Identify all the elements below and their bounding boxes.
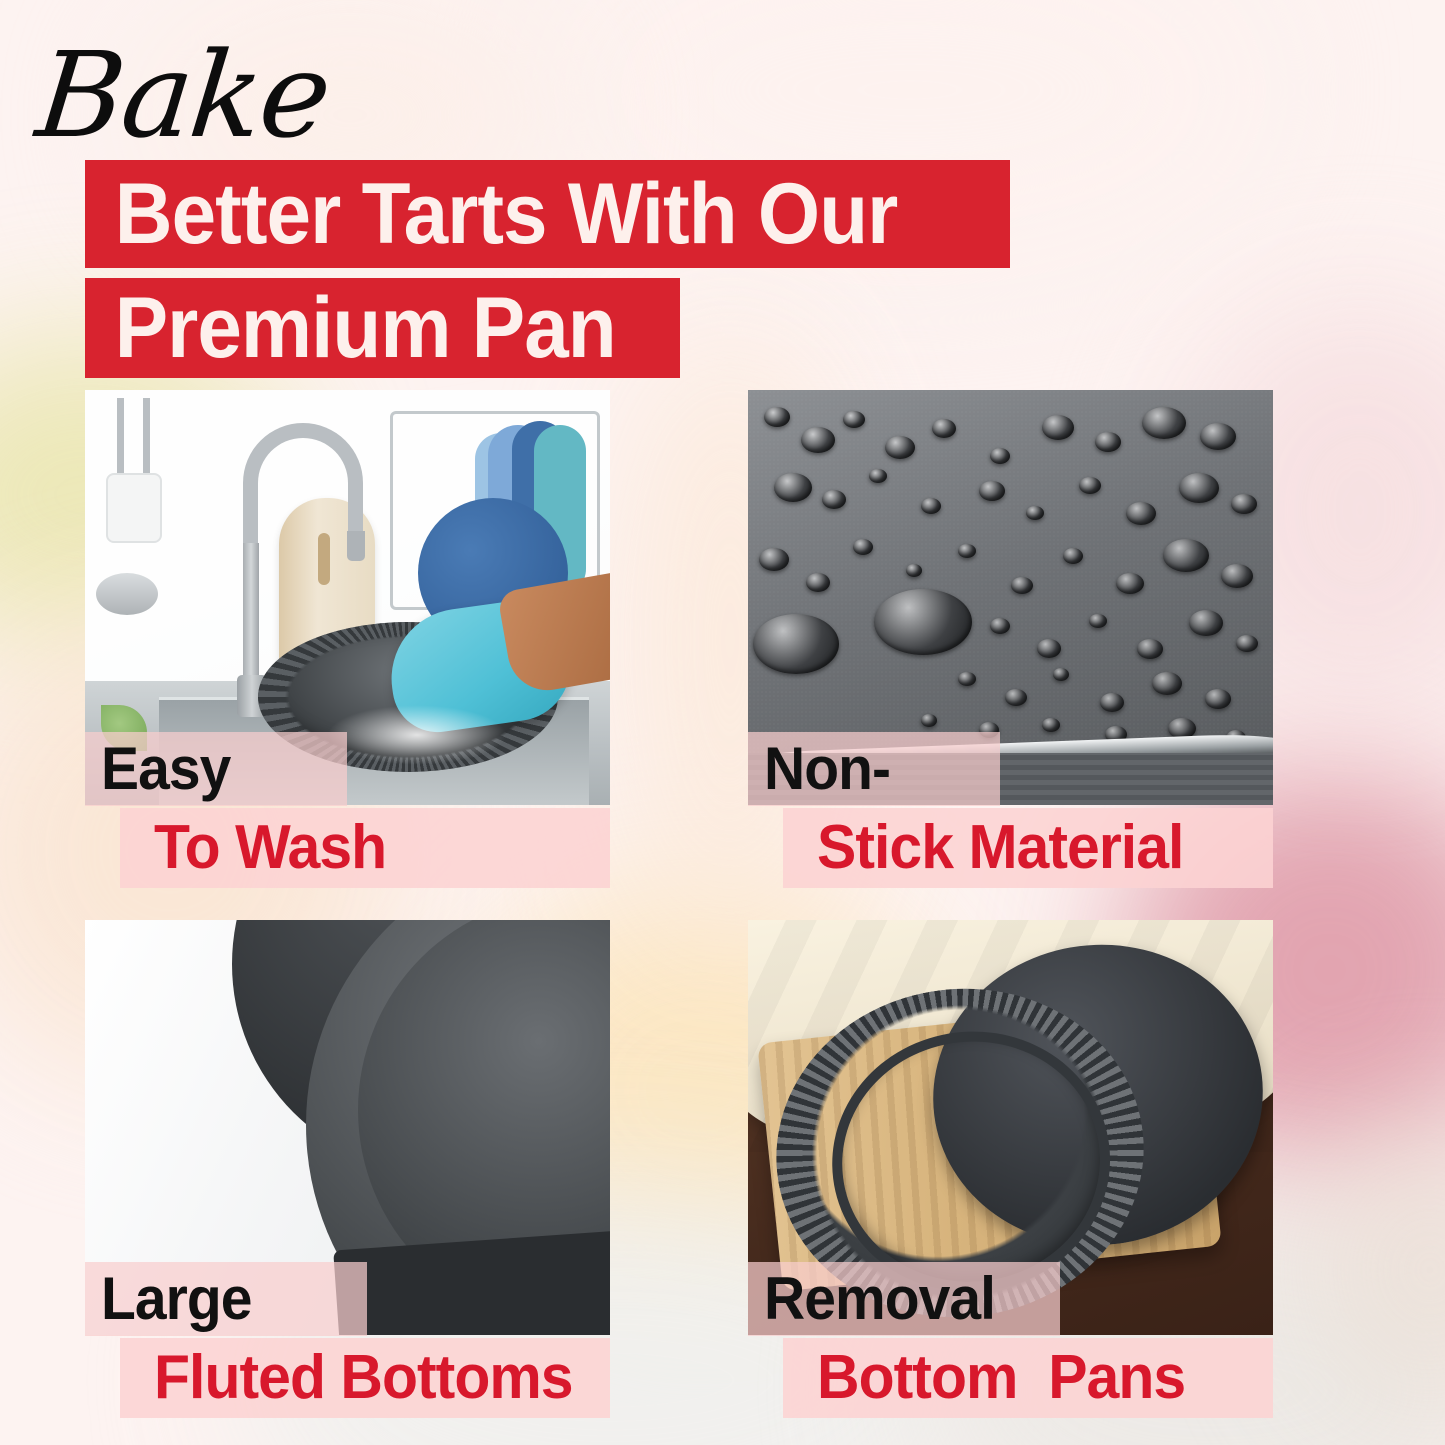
water-droplet: [1163, 539, 1209, 572]
feature-card-large-fluted-bottoms: Large Fluted Bottoms: [85, 920, 610, 1335]
water-droplet: [1095, 432, 1121, 452]
water-droplet: [1231, 494, 1257, 514]
soap-foam: [327, 705, 507, 765]
spatula-icon: [106, 473, 162, 543]
water-droplet: [764, 407, 790, 427]
water-droplet: [774, 473, 812, 502]
card-label-top: Easy: [85, 732, 347, 806]
card-label-top-text: Non-: [764, 739, 890, 799]
faucet-stem: [243, 543, 259, 693]
water-droplet: [869, 469, 887, 483]
headline-line1-text: Better Tarts With Our: [85, 171, 897, 257]
feature-card-removal-bottom-pans: Removal Bottom Pans: [748, 920, 1273, 1335]
water-droplet: [1126, 502, 1156, 525]
water-droplet: [1037, 639, 1061, 658]
card-label-bottom-text: Fluted Bottoms: [154, 1347, 573, 1409]
water-droplet: [1137, 639, 1163, 659]
card-label-bottom-text: Stick Material: [817, 817, 1183, 879]
water-droplet: [1079, 477, 1101, 494]
card-label-bottom-text: Bottom Pans: [817, 1347, 1185, 1409]
card-label-top-text: Easy: [101, 739, 230, 799]
water-droplet: [759, 548, 789, 571]
headline-banner-line1: Better Tarts With Our: [85, 160, 1010, 268]
water-droplet: [1189, 610, 1223, 636]
card-label-top-text: Large: [101, 1269, 251, 1329]
card-label-bottom: Stick Material: [783, 808, 1273, 888]
card-label-top: Large: [85, 1262, 367, 1336]
water-droplet: [1011, 577, 1033, 594]
headline-banner-line2: Premium Pan: [85, 278, 680, 378]
water-droplet: [990, 618, 1010, 634]
water-droplet: [921, 498, 941, 514]
water-droplet: [1142, 407, 1186, 439]
water-droplet: [1042, 415, 1074, 440]
card-label-top: Removal: [748, 1262, 1060, 1336]
headline-block: Bake Better Tarts With Our Premium Pan: [0, 0, 1050, 380]
ladle-icon: [96, 573, 158, 615]
water-droplet: [822, 490, 846, 509]
card-label-top-text: Removal: [764, 1269, 995, 1329]
card-label-bottom-text: To Wash: [154, 817, 386, 879]
water-droplet: [1221, 564, 1253, 588]
faucet-arc: [243, 423, 363, 553]
water-droplet-large: [753, 614, 839, 674]
card-label-bottom: Bottom Pans: [783, 1338, 1273, 1418]
water-droplet: [1063, 548, 1083, 564]
water-droplet: [932, 419, 956, 438]
water-droplet: [1116, 573, 1144, 594]
water-droplet: [906, 564, 922, 577]
script-heading-bake: Bake: [32, 36, 335, 154]
water-droplet: [990, 448, 1010, 464]
water-droplet: [885, 436, 915, 459]
water-droplet: [801, 427, 835, 453]
water-droplet: [1179, 473, 1219, 503]
card-label-top: Non-: [748, 732, 1000, 806]
faucet-spout: [347, 531, 365, 561]
water-droplet: [843, 411, 865, 428]
water-droplet-large: [874, 589, 972, 655]
water-droplet: [1053, 668, 1069, 681]
card-label-bottom: Fluted Bottoms: [120, 1338, 610, 1418]
water-droplet: [1236, 635, 1258, 652]
feature-card-non-stick-material: Non- Stick Material: [748, 390, 1273, 805]
card-label-bottom: To Wash: [120, 808, 610, 888]
water-droplet: [1200, 423, 1236, 450]
water-droplet: [806, 573, 830, 592]
water-droplet: [958, 544, 976, 558]
feature-card-easy-to-wash: Easy To Wash: [85, 390, 610, 805]
headline-line2-text: Premium Pan: [85, 285, 616, 371]
